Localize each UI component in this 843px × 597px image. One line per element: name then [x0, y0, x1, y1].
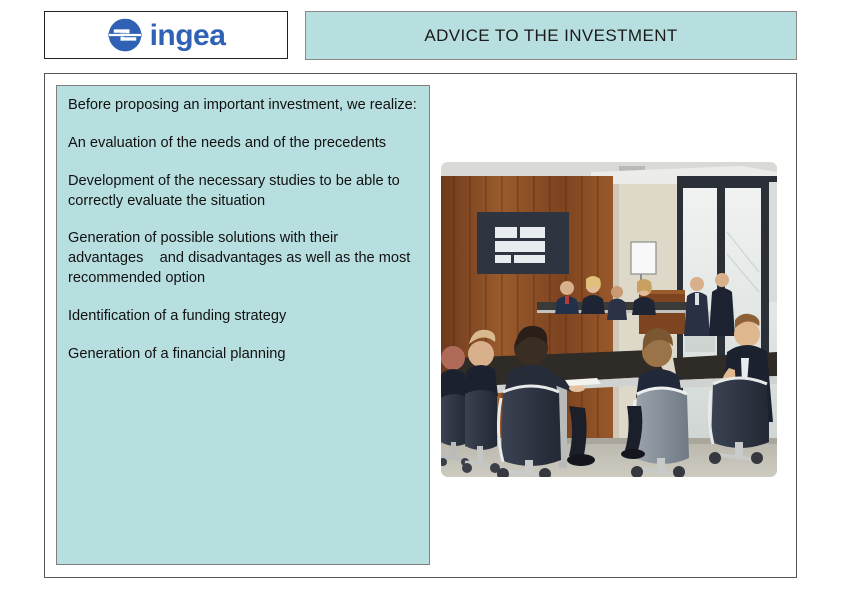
boardroom-illustration [441, 162, 777, 477]
paragraph-funding-strategy: Identification of a funding strategy [68, 307, 417, 327]
paragraph-generation-solutions: Generation of possible solutions with th… [68, 229, 417, 289]
page-title: ADVICE TO THE INVESTMENT [424, 26, 677, 46]
brand-logo-box: ingea [44, 11, 288, 59]
ingea-circle-logo-icon [107, 17, 143, 53]
bullet-text-panel: Before proposing an important investment… [56, 85, 430, 565]
slide-canvas: ingea ADVICE TO THE INVESTMENT Before pr… [0, 0, 843, 597]
brand-wordmark: ingea [150, 21, 226, 51]
paragraph-development: Development of the necessary studies to … [68, 172, 417, 212]
boardroom-meeting-photo [441, 162, 777, 477]
slide-title-box: ADVICE TO THE INVESTMENT [305, 11, 797, 60]
paragraph-intro: Before proposing an important investment… [68, 96, 417, 116]
paragraph-evaluation: An evaluation of the needs and of the pr… [68, 134, 417, 154]
paragraph-financial-planning: Generation of a financial planning [68, 345, 417, 365]
